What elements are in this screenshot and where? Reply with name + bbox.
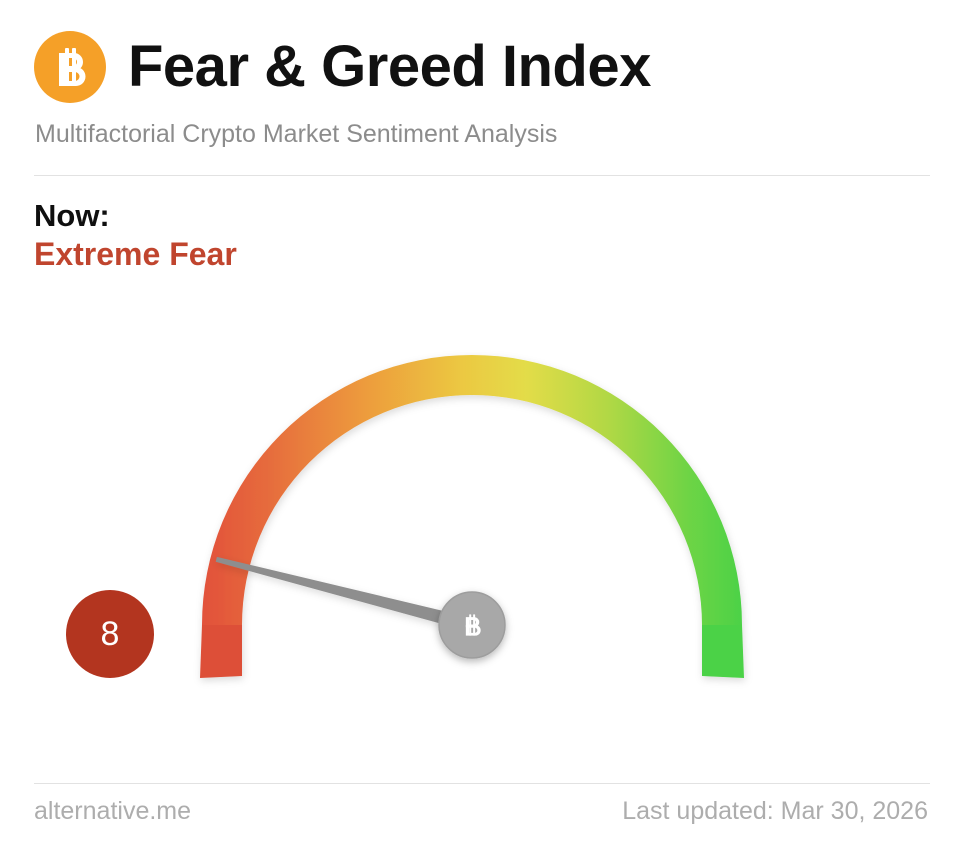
footer: alternative.me Last updated: Mar 30, 202… — [34, 797, 934, 826]
gauge-hub — [439, 592, 505, 658]
gauge-needle — [216, 557, 474, 632]
bitcoin-icon — [34, 31, 106, 103]
footer-divider — [34, 783, 930, 784]
page-subtitle: Multifactorial Crypto Market Sentiment A… — [35, 122, 934, 147]
header-divider — [34, 175, 930, 176]
footer-last-updated: Last updated: Mar 30, 2026 — [622, 797, 934, 826]
status-value: Extreme Fear — [34, 234, 237, 276]
current-status: Now: Extreme Fear — [34, 198, 237, 275]
brand-row: Fear & Greed Index — [34, 26, 934, 108]
header: Fear & Greed Index Multifactorial Crypto… — [34, 26, 934, 156]
page-title: Fear & Greed Index — [128, 38, 651, 96]
status-now-label: Now: — [34, 198, 237, 234]
score-badge: 8 — [66, 590, 154, 678]
score-badge-value: 8 — [101, 617, 120, 651]
fear-greed-gauge — [0, 288, 959, 758]
footer-source-link[interactable]: alternative.me — [34, 797, 191, 826]
fear-greed-index-card: Fear & Greed Index Multifactorial Crypto… — [0, 0, 959, 861]
